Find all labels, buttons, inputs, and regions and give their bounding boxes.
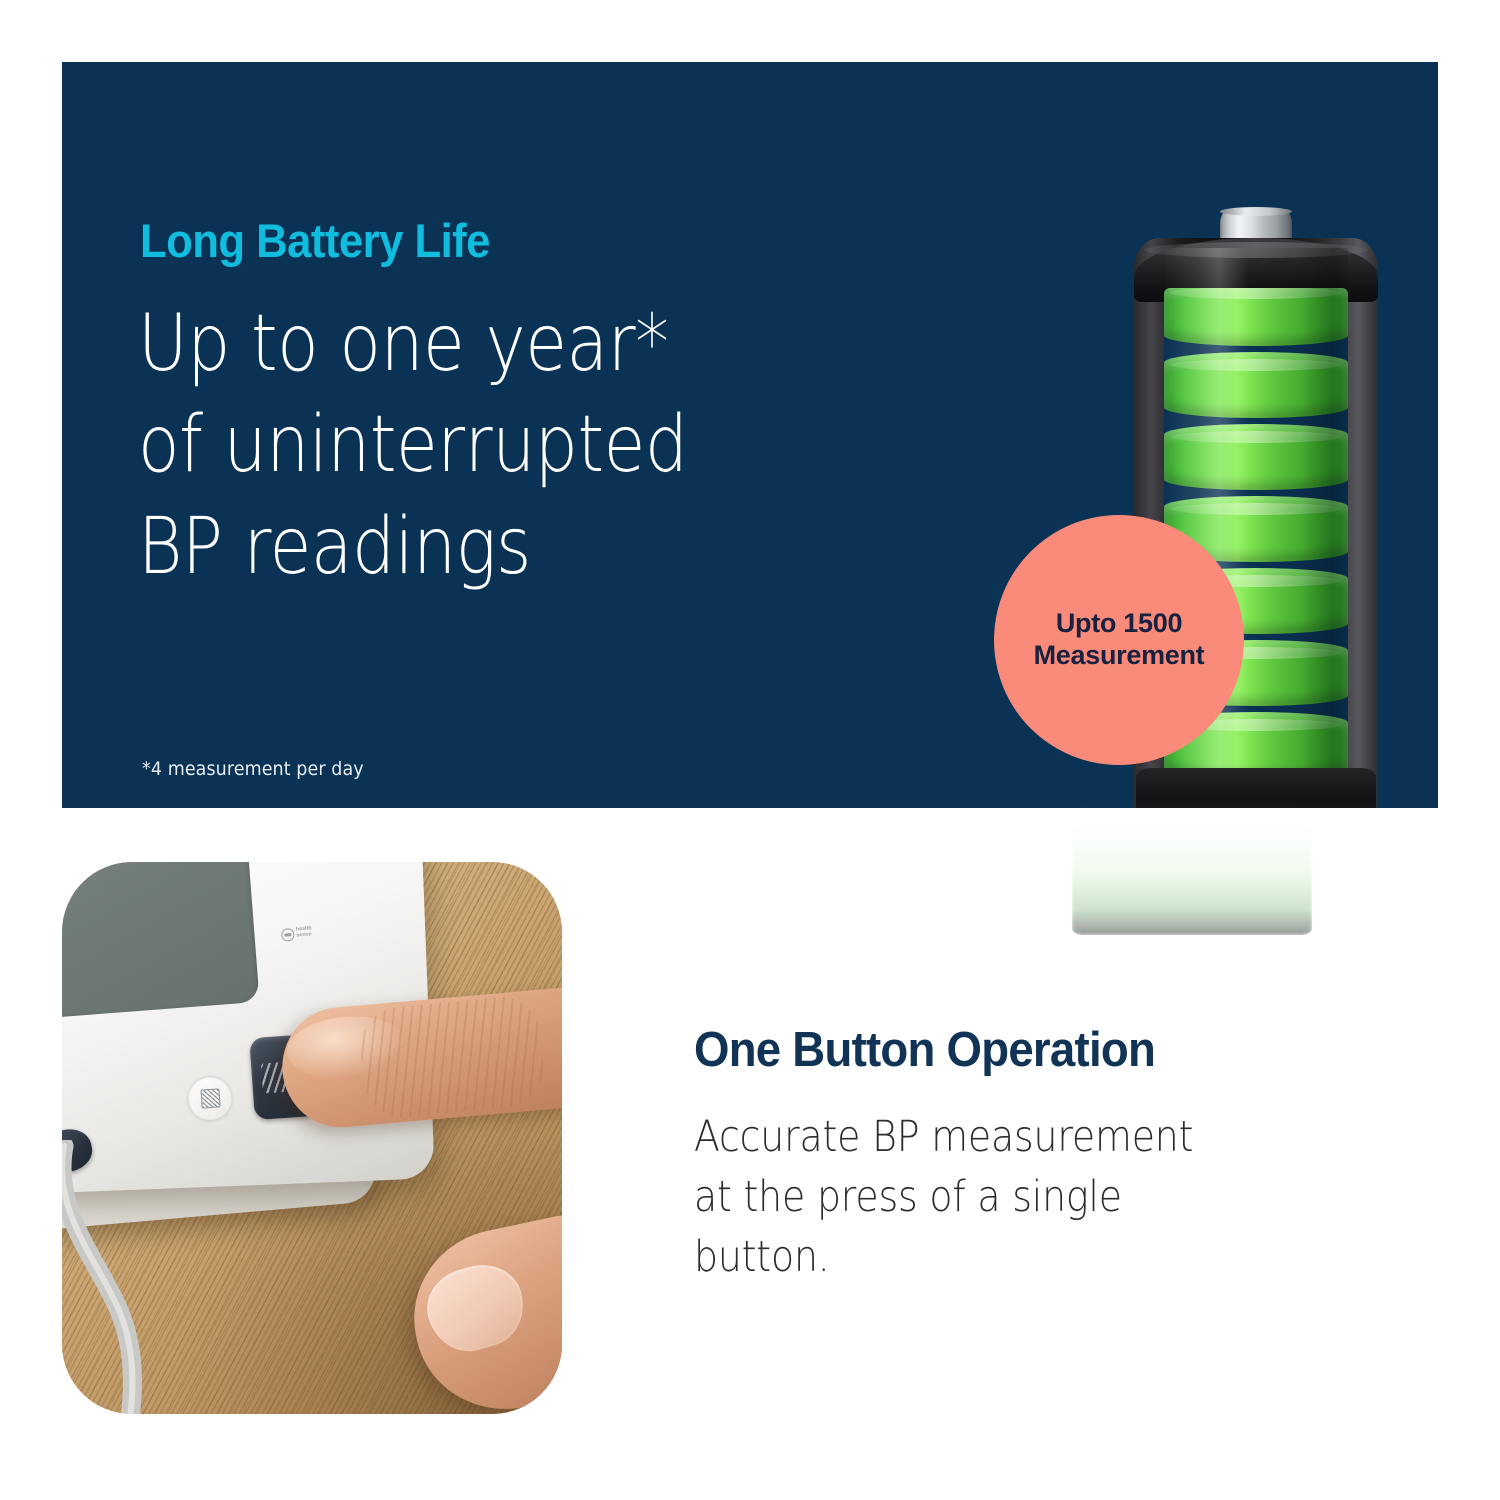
- feature-body-line-1: Accurate BP measurement: [694, 1107, 1336, 1167]
- badge-line-2: Measurement: [1034, 640, 1205, 672]
- hero-footnote: *4 measurement per day: [142, 758, 364, 780]
- brand-logo-text: health sense: [296, 926, 313, 939]
- feature-title: One Button Operation: [694, 1026, 1373, 1075]
- air-hose-tube: [62, 1140, 282, 1414]
- hero-headline-line-3: BP readings: [138, 497, 886, 598]
- battery-life-hero-panel: Long Battery Life Up to one year* of uni…: [62, 62, 1438, 808]
- feature-description: Accurate BP measurement at the press of …: [694, 1107, 1336, 1288]
- monitor-lcd-screen: [62, 862, 260, 1022]
- brand-logo-mark: [281, 927, 295, 941]
- one-button-operation-block: One Button Operation Accurate BP measure…: [694, 1026, 1424, 1288]
- battery-segment: [1164, 352, 1348, 418]
- product-photo: health sense: [62, 862, 562, 1414]
- measurement-count-badge: Upto 1500 Measurement: [994, 515, 1244, 765]
- finger-wrinkles: [357, 993, 548, 1121]
- battery-segment: [1164, 288, 1348, 346]
- brand-logo-text-line-2: sense: [296, 931, 312, 938]
- product-feature-infographic: Long Battery Life Up to one year* of uni…: [0, 0, 1500, 1500]
- product-photo-card: health sense: [62, 862, 562, 1414]
- brand-logo: health sense: [280, 921, 322, 945]
- thumbnail: [418, 1255, 533, 1360]
- hero-eyebrow-label: Long Battery Life: [140, 217, 490, 264]
- battery-reflection: [1072, 775, 1312, 935]
- feature-body-line-3: button.: [694, 1227, 1336, 1287]
- feature-body-line-2: at the press of a single: [694, 1167, 1336, 1227]
- badge-line-1: Upto 1500: [1056, 608, 1182, 640]
- hero-headline: Up to one year* of uninterrupted BP read…: [138, 294, 886, 598]
- battery-segment: [1164, 424, 1348, 490]
- hero-headline-line-2: of uninterrupted: [138, 395, 886, 496]
- hero-headline-line-1: Up to one year*: [138, 294, 886, 395]
